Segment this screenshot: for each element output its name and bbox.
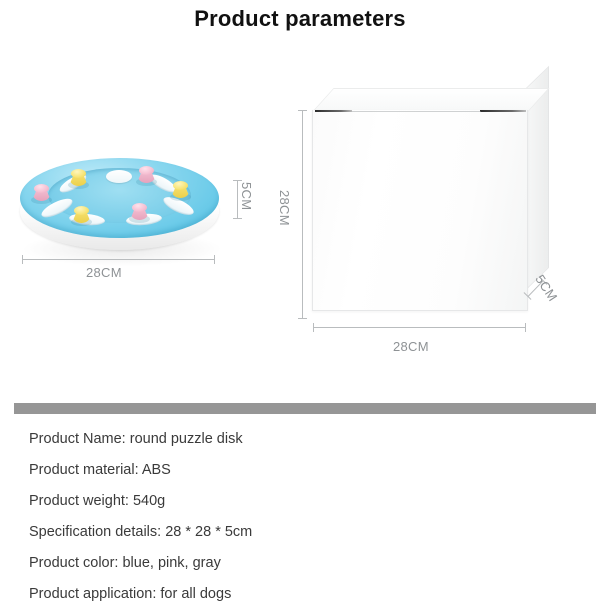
- dimension-line: [302, 110, 303, 318]
- box-tape-left: [315, 110, 352, 112]
- box-front-panel: [312, 110, 528, 311]
- dimension-line: [22, 259, 215, 260]
- dimension-tick: [233, 180, 242, 181]
- box-tape-right: [480, 110, 526, 112]
- dimension-tick: [233, 218, 242, 219]
- dimension-tick: [525, 323, 526, 332]
- dimension-line: [313, 327, 526, 328]
- peg-cap: [34, 184, 49, 193]
- box-top-seam: [352, 111, 481, 112]
- box-top-panel: [312, 88, 550, 112]
- disk-width-label: 28CM: [86, 265, 122, 280]
- spec-line-weight: Product weight: 540g: [29, 486, 569, 517]
- disk-center-hub: [106, 170, 132, 183]
- disk-peg-pink: [130, 203, 149, 222]
- disk-peg-pink: [137, 166, 156, 185]
- spec-line-material: Product material: ABS: [29, 455, 569, 486]
- dimension-tick: [214, 255, 215, 264]
- dimension-tick: [22, 255, 23, 264]
- disk-peg-pink: [32, 184, 51, 203]
- disk-peg-yellow: [72, 206, 91, 225]
- spec-line-application: Product application: for all dogs: [29, 579, 569, 610]
- spec-line-color: Product color: blue, pink, gray: [29, 548, 569, 579]
- spec-line-details: Specification details: 28 * 28 * 5cm: [29, 517, 569, 548]
- product-spec-list: Product Name: round puzzle disk Product …: [29, 424, 569, 610]
- disk-height-label: 5CM: [239, 182, 254, 210]
- dimension-tick: [298, 110, 307, 111]
- product-box-figure: [275, 85, 585, 360]
- page-title: Product parameters: [0, 6, 600, 32]
- peg-cap: [139, 166, 154, 175]
- peg-cap: [74, 206, 89, 215]
- peg-cap: [71, 169, 86, 178]
- dimension-tick: [298, 318, 307, 319]
- box-height-label: 28CM: [277, 190, 292, 226]
- disk-peg-yellow: [69, 169, 88, 188]
- dimension-line: [237, 180, 238, 218]
- spec-line-name: Product Name: round puzzle disk: [29, 424, 569, 455]
- peg-cap: [132, 203, 147, 212]
- dimension-tick: [313, 323, 314, 332]
- box-width-label: 28CM: [393, 339, 429, 354]
- section-divider: [14, 403, 596, 414]
- disk-peg-yellow: [171, 181, 190, 200]
- peg-cap: [173, 181, 188, 190]
